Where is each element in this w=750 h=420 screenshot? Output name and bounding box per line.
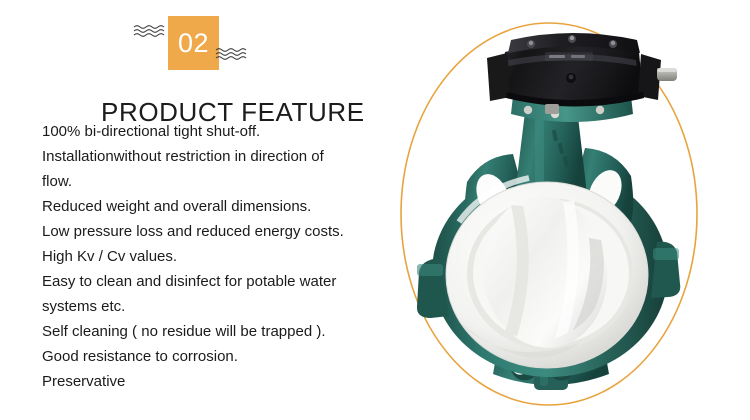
- wave-lines-right-icon: [215, 47, 249, 61]
- feature-item: Good resistance to corrosion.: [42, 344, 382, 369]
- feature-item: systems etc.: [42, 294, 382, 319]
- product-image-panel: [395, 0, 750, 420]
- feature-item: 100% bi-directional tight shut-off.: [42, 119, 382, 144]
- section-badge-group: 02: [143, 16, 263, 78]
- feature-list: 100% bi-directional tight shut-off. Inst…: [42, 119, 382, 394]
- feature-item: Installationwithout restriction in direc…: [42, 144, 382, 169]
- feature-item: Low pressure loss and reduced energy cos…: [42, 219, 382, 244]
- feature-item: Easy to clean and disinfect for potable …: [42, 269, 382, 294]
- stem-nub: [545, 104, 559, 114]
- feature-item: Reduced weight and overall dimensions.: [42, 194, 382, 219]
- feature-item: flow.: [42, 169, 382, 194]
- gearbox-actuator: [487, 33, 677, 107]
- left-content-column: 02 PRODUCT FEATURE 100% bi-directional t…: [0, 0, 400, 420]
- butterfly-valve-illustration: [395, 0, 750, 420]
- feature-item: High Kv / Cv values.: [42, 244, 382, 269]
- feature-item: Preservative: [42, 369, 382, 394]
- wave-lines-left-icon: [133, 24, 167, 38]
- section-number-badge: 02: [168, 16, 219, 70]
- feature-item: Self cleaning ( no residue will be trapp…: [42, 319, 382, 344]
- product-feature-slide: 02 PRODUCT FEATURE 100% bi-directional t…: [0, 0, 750, 420]
